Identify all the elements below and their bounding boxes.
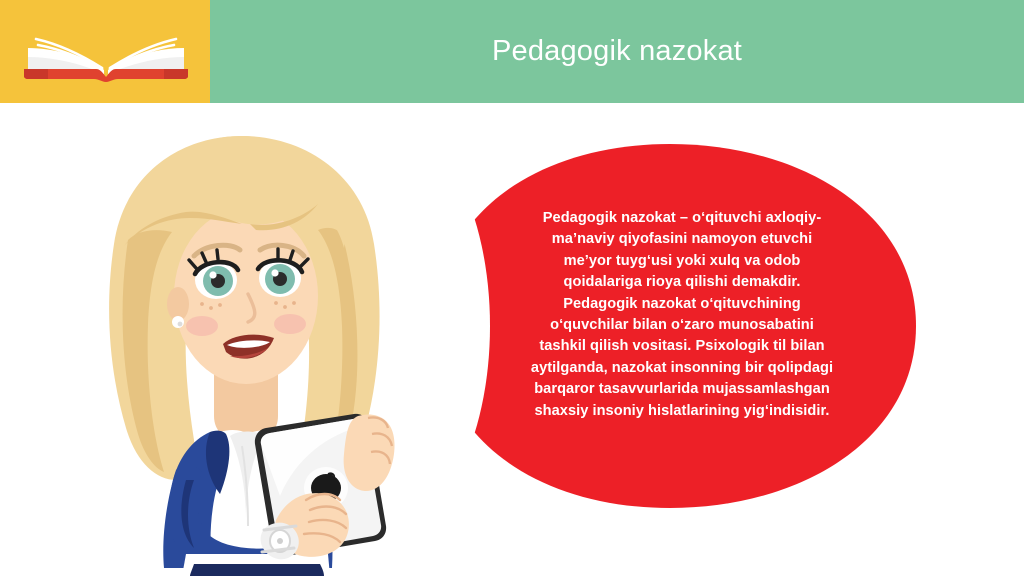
ear-left <box>167 287 189 321</box>
cheek-left <box>186 316 218 336</box>
speech-bubble-text: Pedagogik nazokat – o‘qituvchi axloqiy- … <box>512 208 852 422</box>
earring <box>172 316 184 328</box>
slide-root: Pedagogik nazokat Pedagogik nazokat – o‘… <box>0 0 1024 576</box>
skirt <box>190 564 324 576</box>
slide-header: Pedagogik nazokat <box>0 0 1024 103</box>
teacher-illustration <box>90 128 402 576</box>
speech-bubble: Pedagogik nazokat – o‘qituvchi axloqiy- … <box>420 140 920 512</box>
earring-highlight <box>178 322 183 327</box>
page-title: Pedagogik nazokat <box>210 0 1024 103</box>
open-book-logo-icon <box>18 24 194 82</box>
cheek-right <box>274 314 306 334</box>
hand-upper <box>344 414 395 491</box>
